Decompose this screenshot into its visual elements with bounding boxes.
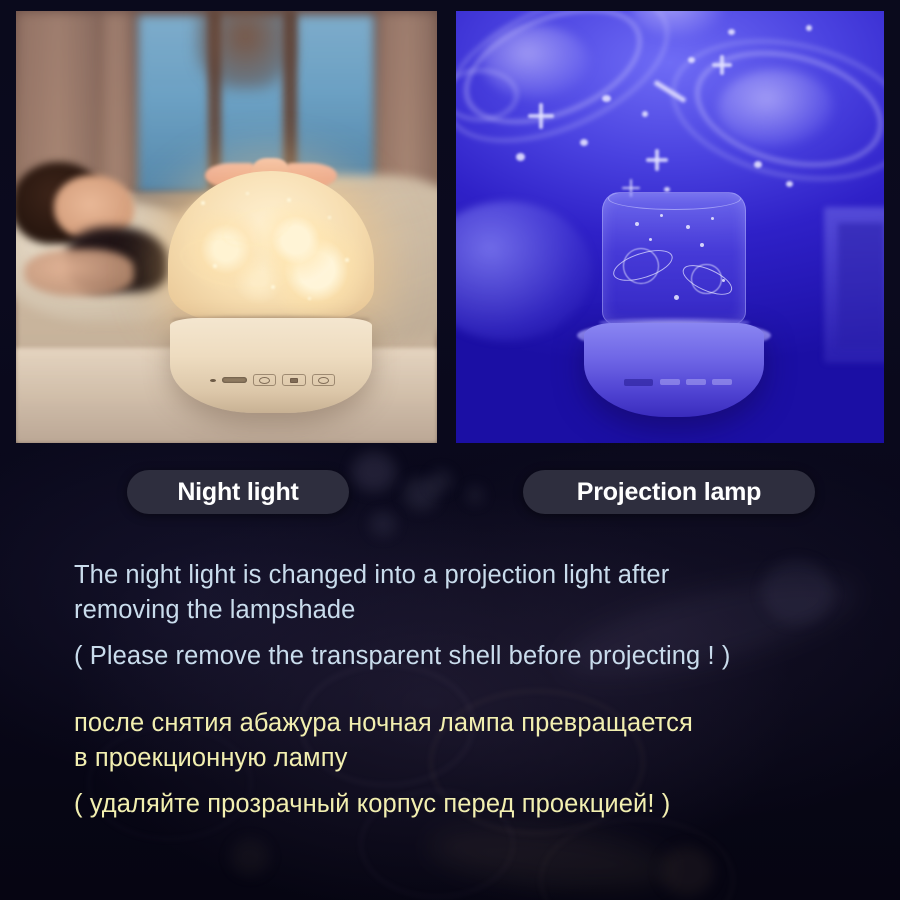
shell-star bbox=[660, 214, 663, 217]
english-description: The night light is changed into a projec… bbox=[74, 558, 864, 674]
projected-star bbox=[308, 297, 311, 300]
projected-star-dot bbox=[664, 187, 670, 192]
projected-4point-star bbox=[646, 149, 668, 171]
shell-top-rim bbox=[608, 192, 741, 209]
projected-star bbox=[271, 285, 275, 289]
shell-star bbox=[635, 222, 639, 226]
shell-star bbox=[686, 225, 690, 229]
english-line-2: removing the lampshade bbox=[74, 593, 864, 628]
russian-note: ( удаляйте прозрачный корпус перед проек… bbox=[74, 787, 864, 822]
power-button[interactable] bbox=[253, 374, 276, 386]
projected-star-dot bbox=[786, 181, 793, 187]
mode-button-blue[interactable] bbox=[686, 379, 706, 385]
projection-lamp bbox=[584, 192, 764, 417]
projection-lamp-photo bbox=[456, 11, 884, 443]
picture-frame-inner bbox=[838, 223, 884, 349]
russian-line-2: в проекционную лампу bbox=[74, 741, 864, 776]
projected-star-dot bbox=[806, 25, 812, 31]
projected-star-dot bbox=[580, 139, 588, 146]
projection-lamp-caption-badge: Projection lamp bbox=[523, 470, 815, 514]
projection-scene bbox=[456, 11, 884, 443]
projected-star-dot bbox=[754, 161, 762, 168]
mode-button[interactable] bbox=[282, 374, 305, 386]
lamp-control-panel bbox=[210, 373, 335, 387]
night-light-lamp bbox=[168, 171, 374, 413]
blue-balloon bbox=[456, 201, 592, 341]
sleeping-woman-arm bbox=[24, 249, 133, 297]
english-note: ( Please remove the transparent shell be… bbox=[74, 639, 864, 674]
lamp-base bbox=[170, 318, 372, 412]
lampshade-dome bbox=[168, 171, 374, 321]
english-line-1: The night light is changed into a projec… bbox=[74, 558, 864, 593]
transparent-shell bbox=[602, 192, 746, 324]
projected-4point-star bbox=[712, 55, 732, 75]
russian-description: после снятия абажура ночная лампа превра… bbox=[74, 706, 864, 822]
product-banner: Night light Projection lamp The night li… bbox=[0, 0, 900, 900]
projected-star-dot bbox=[602, 95, 611, 102]
rotate-button[interactable] bbox=[312, 374, 335, 386]
bedroom-scene bbox=[16, 11, 437, 443]
projected-4point-star bbox=[528, 103, 554, 129]
shell-star bbox=[649, 238, 652, 241]
russian-line-1: после снятия абажура ночная лампа превра… bbox=[74, 706, 864, 741]
projected-star-dot bbox=[688, 57, 695, 63]
projected-star bbox=[287, 198, 291, 202]
projected-star bbox=[201, 201, 205, 205]
power-button-blue[interactable] bbox=[660, 379, 680, 385]
usb-charging-port[interactable] bbox=[222, 377, 247, 383]
shell-star bbox=[700, 243, 704, 247]
night-light-caption-badge: Night light bbox=[127, 470, 349, 514]
projected-star-dot bbox=[642, 111, 648, 117]
projected-star bbox=[246, 192, 249, 195]
night-light-photo bbox=[16, 11, 437, 443]
shell-star bbox=[711, 217, 714, 220]
projected-star bbox=[328, 216, 331, 219]
status-led-indicator bbox=[210, 379, 216, 382]
projected-star-dot bbox=[516, 153, 525, 161]
lamp-control-panel-blue bbox=[624, 377, 732, 386]
rotate-button-blue[interactable] bbox=[712, 379, 732, 385]
hanging-plant bbox=[197, 11, 294, 89]
projected-orbit-arc bbox=[177, 230, 297, 296]
projected-star bbox=[345, 258, 349, 262]
projected-star-dot bbox=[728, 29, 735, 35]
shell-star bbox=[674, 295, 679, 300]
usb-charging-port-blue[interactable] bbox=[624, 379, 653, 386]
lamp-base-blue bbox=[584, 323, 764, 417]
projected-star bbox=[213, 264, 217, 268]
projected-orbit-arc-right bbox=[659, 19, 884, 200]
